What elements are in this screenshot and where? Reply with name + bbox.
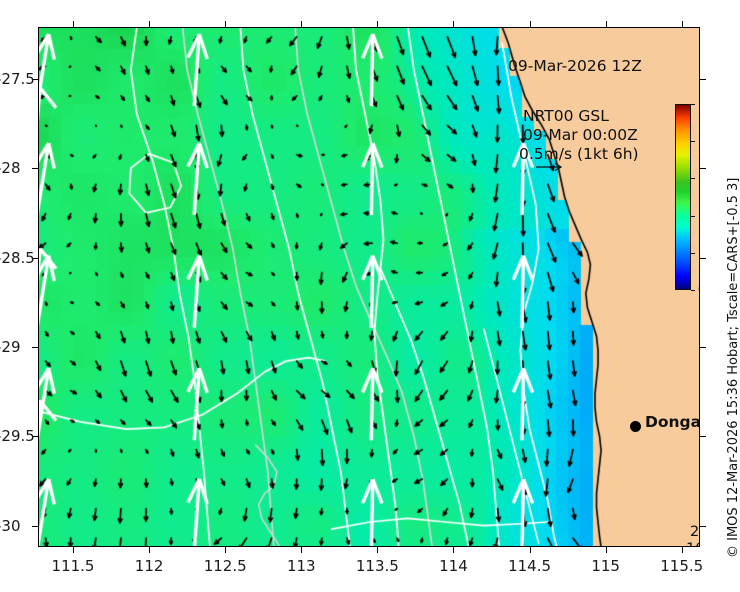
y-tick-label: -30 bbox=[0, 517, 20, 535]
x-tick-top bbox=[301, 21, 302, 27]
dongara-label: Dongara bbox=[645, 413, 700, 431]
colorbar: 0510152025 bbox=[675, 104, 691, 290]
y-tick-label: -28.5 bbox=[0, 249, 20, 267]
colorbar-tick bbox=[691, 178, 695, 179]
colorbar-tick-label: 0 bbox=[698, 282, 700, 298]
map-plot-area[interactable]: 09-Mar-2026 12Z NRT00 GSL 09-Mar 00:00Z … bbox=[38, 27, 700, 547]
colorbar-tick bbox=[691, 104, 695, 105]
x-tick-top bbox=[149, 21, 150, 27]
y-tick-label: -28 bbox=[0, 159, 20, 177]
y-tick-right bbox=[700, 436, 706, 437]
y-tick bbox=[32, 168, 38, 169]
x-tick-top bbox=[73, 21, 74, 27]
colorbar-tick-label: 20 bbox=[698, 133, 700, 149]
figure-root: 09-Mar-2026 12Z NRT00 GSL 09-Mar 00:00Z … bbox=[0, 0, 740, 592]
x-tick-label: 112 bbox=[135, 557, 164, 575]
y-tick-label: -29 bbox=[0, 338, 20, 356]
colorbar-gradient bbox=[675, 104, 691, 290]
x-tick bbox=[682, 547, 683, 553]
credit-text: © IMOS 12-Mar-2026 15:36 Hobart; Tscale=… bbox=[726, 178, 740, 558]
x-tick bbox=[301, 547, 302, 553]
x-tick-top bbox=[225, 21, 226, 27]
vector-and-contour-overlay bbox=[38, 27, 700, 547]
colorbar-tick bbox=[691, 290, 695, 291]
source-line-1: NRT00 GSL bbox=[523, 107, 609, 125]
x-tick bbox=[225, 547, 226, 553]
y-tick-right bbox=[700, 258, 706, 259]
y-tick bbox=[32, 347, 38, 348]
y-tick-right bbox=[700, 526, 706, 527]
depth-legend-200m: 200m bbox=[690, 524, 700, 540]
x-tick bbox=[377, 547, 378, 553]
x-tick-label: 115 bbox=[591, 557, 620, 575]
x-tick-label: 112.5 bbox=[204, 557, 247, 575]
x-tick bbox=[453, 547, 454, 553]
x-tick-label: 114.5 bbox=[508, 557, 551, 575]
vector-scale-arrow-icon bbox=[535, 161, 565, 173]
colorbar-tick-label: 25 bbox=[698, 96, 700, 112]
x-tick bbox=[606, 547, 607, 553]
depth-legend-1000m: 1000m bbox=[686, 541, 700, 547]
x-tick bbox=[530, 547, 531, 553]
colorbar-tick-label: 10 bbox=[698, 208, 700, 224]
x-tick-top bbox=[377, 21, 378, 27]
x-tick-top bbox=[682, 21, 683, 27]
x-tick-label: 115.5 bbox=[660, 557, 703, 575]
y-tick-label: -27.5 bbox=[0, 70, 20, 88]
y-tick-label: -29.5 bbox=[0, 427, 20, 445]
colorbar-tick bbox=[691, 216, 695, 217]
x-tick bbox=[149, 547, 150, 553]
x-tick-label: 111.5 bbox=[52, 557, 95, 575]
x-tick-top bbox=[453, 21, 454, 27]
x-tick bbox=[73, 547, 74, 553]
date-stamp: 09-Mar-2026 12Z bbox=[508, 57, 642, 75]
colorbar-tick bbox=[691, 253, 695, 254]
x-tick-top bbox=[606, 21, 607, 27]
x-tick-label: 113.5 bbox=[356, 557, 399, 575]
y-tick-right bbox=[700, 79, 706, 80]
colorbar-tick bbox=[691, 141, 695, 142]
y-tick-right bbox=[700, 168, 706, 169]
y-tick-right bbox=[700, 347, 706, 348]
colorbar-tick-label: 15 bbox=[698, 170, 700, 186]
source-line-2: 09-Mar 00:00Z bbox=[523, 126, 638, 144]
x-tick-label: 113 bbox=[287, 557, 316, 575]
x-tick-label: 114 bbox=[439, 557, 468, 575]
y-tick bbox=[32, 526, 38, 527]
x-tick-top bbox=[530, 21, 531, 27]
dongara-marker-dot bbox=[630, 421, 641, 432]
